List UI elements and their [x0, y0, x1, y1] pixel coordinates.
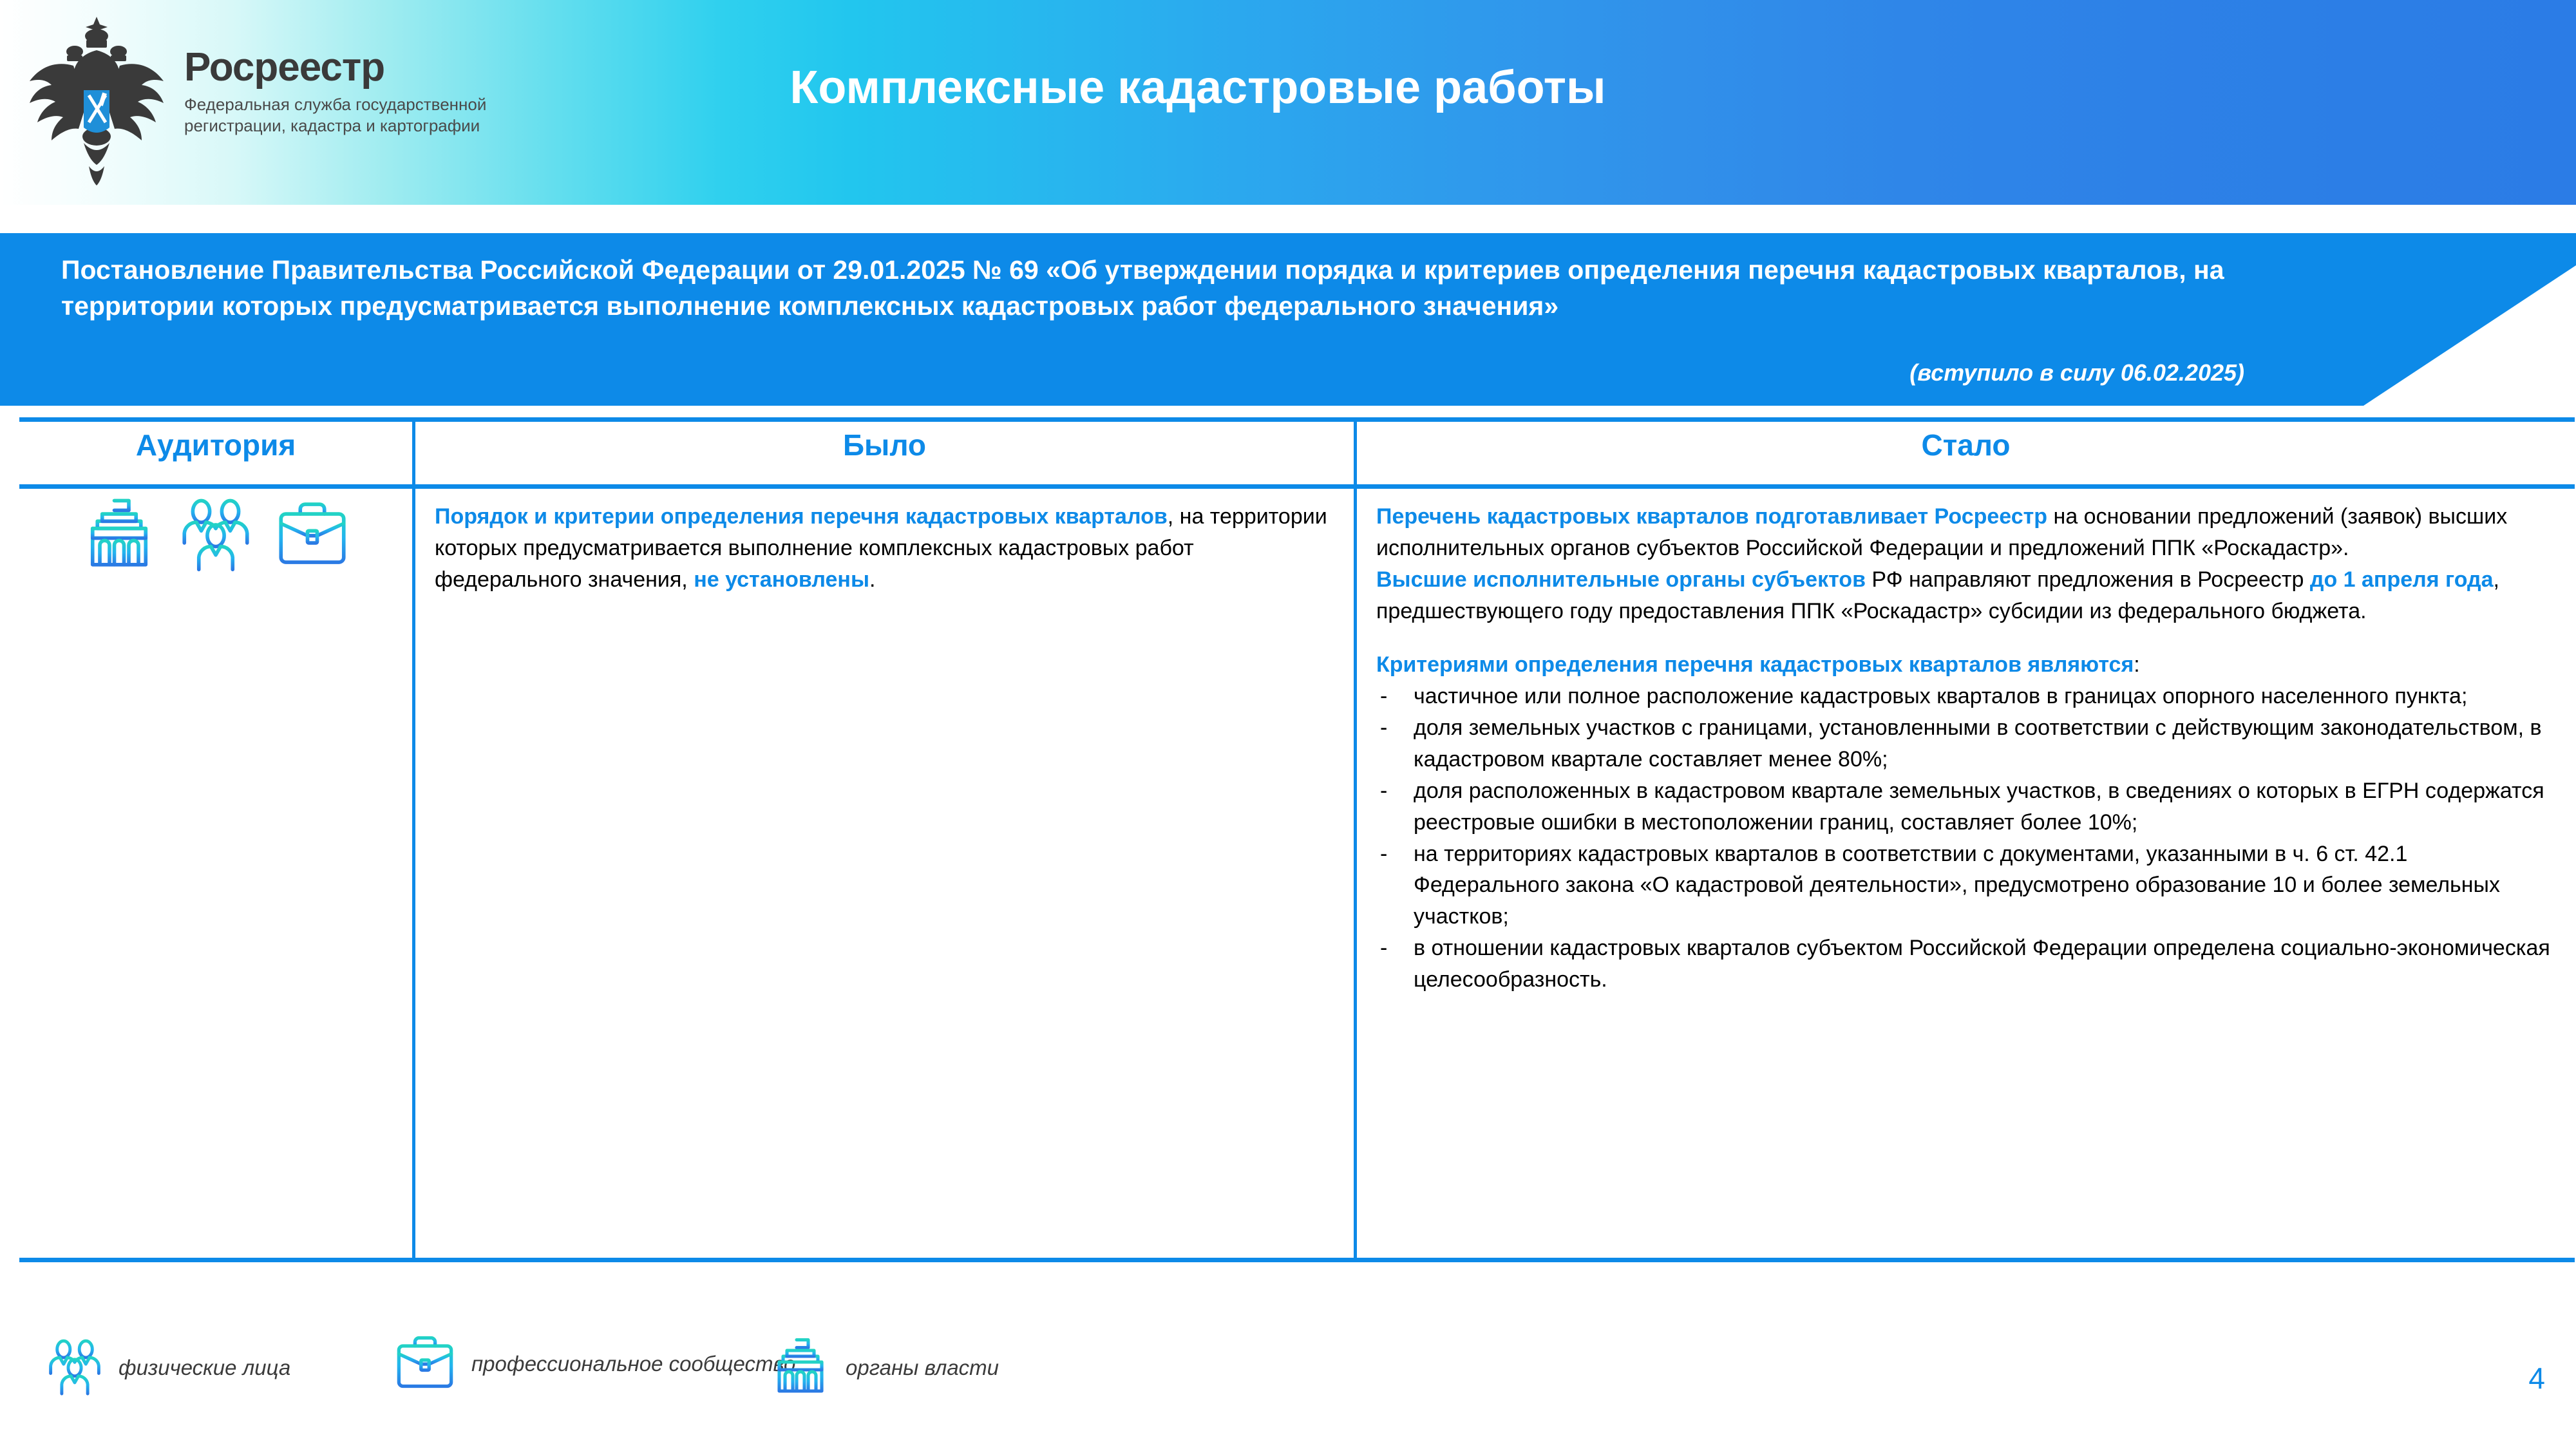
table-bottom-border [19, 1258, 2575, 1262]
after-text-2: РФ направляют предложения в Росреестр [1866, 567, 2310, 592]
before-text-2: . [869, 567, 875, 592]
legend-label: физические лица [118, 1354, 290, 1381]
page-number: 4 [2528, 1361, 2545, 1396]
decree-effective-date: (вступило в силу 06.02.2025) [1909, 359, 2244, 386]
briefcase-icon [274, 495, 351, 575]
table-header-border [19, 484, 2575, 489]
people-group-icon [177, 495, 254, 575]
criteria-list: частичное или полное расположение кадаст… [1376, 681, 2555, 996]
slide-header: Росреестр Федеральная служба государстве… [0, 0, 2576, 205]
decree-text: Постановление Правительства Российской Ф… [61, 252, 2354, 325]
legend-item-authorities: органы власти [770, 1335, 999, 1400]
legend-item-individuals: физические лица [45, 1336, 290, 1399]
list-item: доля расположенных в кадастровом квартал… [1376, 775, 2555, 838]
comparison-table: Аудитория Было Стало [19, 417, 2575, 1262]
logo-subtitle: Федеральная служба государственной регис… [184, 94, 519, 137]
column-header-audience: Аудитория [19, 428, 412, 462]
list-item: частичное или полное расположение кадаст… [1376, 681, 2555, 712]
table-divider-2 [1354, 417, 1357, 1262]
legend-item-professionals: профессиональное сообщество [393, 1330, 795, 1397]
logo-title: Росреестр [184, 48, 519, 88]
column-header-before: Было [415, 428, 1354, 462]
spacer [1376, 627, 2555, 649]
table-top-border [19, 417, 2575, 422]
government-building-icon [770, 1335, 831, 1400]
legend-label: органы власти [846, 1354, 999, 1381]
list-item: в отношении кадастровых кварталов субъек… [1376, 933, 2555, 996]
criteria-title-highlight: Критериями определения перечня кадастров… [1376, 652, 2134, 677]
after-paragraph-2: Высшие исполнительные органы субъектов Р… [1376, 564, 2555, 627]
slide-footer: физические лица профессиональное сообщес… [0, 1323, 2576, 1449]
list-item: доля земельных участков с границами, уст… [1376, 712, 2555, 775]
people-group-icon [45, 1336, 104, 1399]
criteria-title: Критериями определения перечня кадастров… [1376, 649, 2555, 681]
before-highlight-1: Порядок и критерии определения перечня к… [435, 504, 1168, 529]
after-highlight-2: Высшие исполнительные органы субъектов [1376, 567, 1866, 592]
decree-banner: Постановление Правительства Российской Ф… [0, 233, 2576, 406]
logo-text-block: Росреестр Федеральная служба государстве… [184, 14, 519, 137]
table-divider-1 [412, 417, 415, 1262]
government-building-icon [80, 495, 158, 575]
column-header-after: Стало [1357, 428, 2575, 462]
cell-before-content: Порядок и критерии определения перечня к… [435, 501, 1330, 596]
page-title: Комплексные кадастровые работы [631, 61, 1765, 114]
criteria-title-colon: : [2134, 652, 2139, 677]
cell-after-content: Перечень кадастровых кварталов подготавл… [1376, 501, 2555, 996]
legend-label: профессиональное сообщество [471, 1350, 795, 1378]
before-highlight-2: не установлены [694, 567, 869, 592]
audience-icons [19, 495, 412, 575]
after-highlight-1: Перечень кадастровых кварталов подготавл… [1376, 504, 2047, 529]
after-paragraph-1: Перечень кадастровых кварталов подготавл… [1376, 501, 2555, 564]
rosreestr-logo: Росреестр Федеральная служба государстве… [19, 14, 519, 188]
list-item: на территориях кадастровых кварталов в с… [1376, 838, 2555, 933]
double-headed-eagle-emblem-icon [19, 14, 174, 188]
after-highlight-3: до 1 апреля года [2310, 567, 2494, 592]
briefcase-icon [393, 1330, 457, 1397]
